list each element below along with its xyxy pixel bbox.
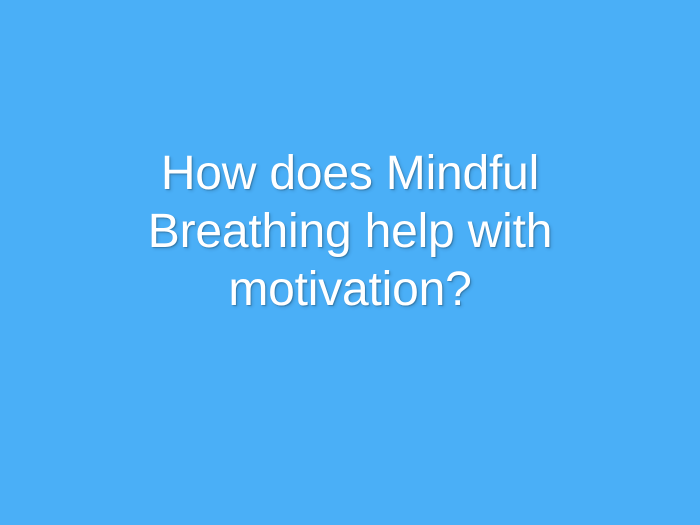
- headline-block: How does Mindful Breathing help with mot…: [115, 145, 585, 319]
- headline-line-3: motivation?: [115, 261, 585, 319]
- headline-line-1: How does Mindful: [115, 145, 585, 203]
- headline-line-2: Breathing help with: [115, 203, 585, 261]
- page-title: How does Mindful Breathing help with mot…: [115, 145, 585, 319]
- question-card: How does Mindful Breathing help with mot…: [0, 0, 700, 525]
